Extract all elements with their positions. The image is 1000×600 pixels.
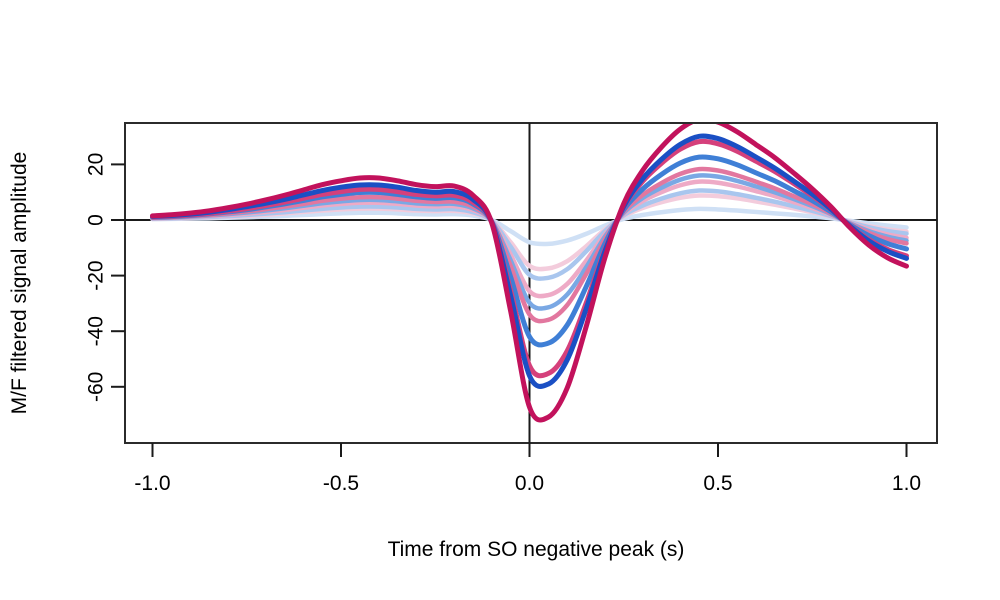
chart-canvas: -1.0-0.50.00.51.0 200-20-40-60 Time from… (0, 0, 1000, 600)
y-tick-label: 20 (85, 153, 108, 176)
x-tick-label: 1.0 (892, 472, 921, 495)
signal-amplitude-line-chart: -1.0-0.50.00.51.0 200-20-40-60 Time from… (0, 0, 1000, 600)
chart-background (0, 0, 1000, 600)
y-tick-label: -40 (85, 316, 108, 346)
x-tick-label: 0.0 (515, 472, 544, 495)
y-axis-title: M/F filtered signal amplitude (8, 152, 31, 415)
x-tick-label: 0.5 (703, 472, 732, 495)
x-axis-title: Time from SO negative peak (s) (388, 538, 685, 561)
y-tick-label: -20 (85, 260, 108, 290)
y-tick-label: -60 (85, 372, 108, 402)
y-tick-label: 0 (85, 214, 108, 226)
x-tick-label: -1.0 (134, 472, 170, 495)
x-tick-label: -0.5 (323, 472, 359, 495)
